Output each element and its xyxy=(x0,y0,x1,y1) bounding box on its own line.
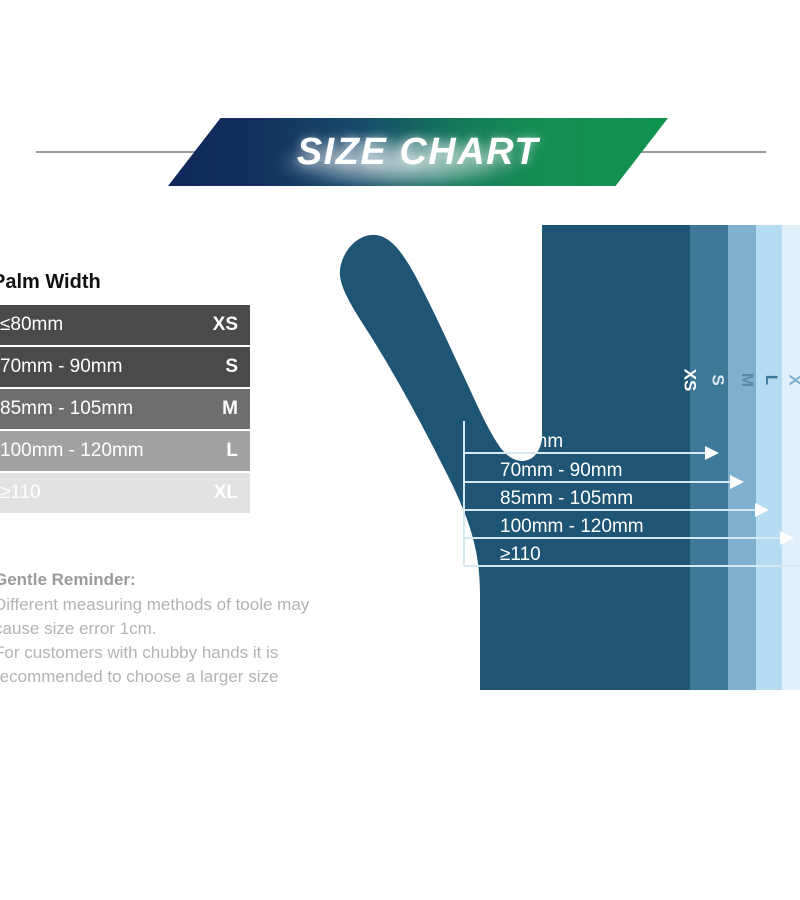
glove-band-m xyxy=(728,225,756,695)
measurement-label: ≤80mm xyxy=(500,431,563,452)
size-range-value: ≥110 xyxy=(0,482,41,504)
band-label-s: S xyxy=(708,374,728,385)
size-table-row: 85mm - 105mmM xyxy=(0,389,250,429)
header-banner: SIZE CHART xyxy=(0,118,800,186)
band-label-m: M xyxy=(737,373,757,387)
glove-band-xs xyxy=(300,225,690,695)
glove-band-l xyxy=(756,225,782,695)
band-label-l: L xyxy=(761,375,781,385)
size-table-row: ≥110XL xyxy=(0,473,250,513)
table-header-palm-width: Palm Width xyxy=(0,271,101,294)
size-code-value: L xyxy=(226,440,238,462)
size-table-row: ≤80mmXS xyxy=(0,305,250,345)
size-table: ≤80mmXS70mm - 90mmS85mm - 105mmM100mm - … xyxy=(0,305,250,515)
size-code-value: XL xyxy=(214,482,238,504)
size-code-value: S xyxy=(225,356,238,378)
glove-band-x xyxy=(782,225,800,695)
page-title: SIZE CHART xyxy=(168,118,668,186)
size-range-value: ≤80mm xyxy=(0,314,63,336)
measurement-label: ≥110 xyxy=(500,544,541,565)
size-range-value: 100mm - 120mm xyxy=(0,440,144,462)
measurement-label: 70mm - 90mm xyxy=(500,460,622,481)
size-chart-page: SIZE CHART Palm Width ≤80mmXS70mm - 90mm… xyxy=(0,0,800,900)
size-table-row: 70mm - 90mmS xyxy=(0,347,250,387)
size-range-value: 85mm - 105mm xyxy=(0,398,133,420)
band-label-xs: XS xyxy=(679,369,699,392)
band-label-x: X xyxy=(785,374,800,385)
size-code-value: XS xyxy=(213,314,238,336)
measurement-label: 85mm - 105mm xyxy=(500,488,633,509)
glove-band-s xyxy=(690,225,728,695)
size-table-row: 100mm - 120mmL xyxy=(0,431,250,471)
size-code-value: M xyxy=(222,398,238,420)
size-range-value: 70mm - 90mm xyxy=(0,356,122,378)
glove-illustration: ≤80mm 70mm - 90mm 85mm - 105mm 100mm - 1… xyxy=(300,225,800,695)
measurement-label: 100mm - 120mm xyxy=(500,516,644,537)
glove-graphic: ≤80mm 70mm - 90mm 85mm - 105mm 100mm - 1… xyxy=(300,225,800,695)
